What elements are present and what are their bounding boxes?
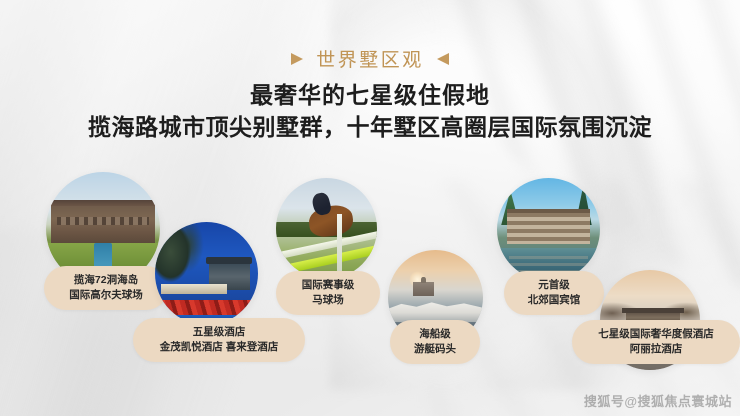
headline-line-2: 揽海路城市顶尖别墅群，十年墅区高圈层国际氛围沉淀 — [0, 111, 740, 144]
amenity-label-line-2: 北郊国宾馆 — [518, 293, 590, 308]
amenity-label-line-1: 揽海72洞海岛 — [58, 273, 154, 288]
amenity-label-line-1: 国际赛事级 — [290, 278, 366, 293]
amenity-label-alila: 七星级国际奢华度假酒店 阿丽拉酒店 — [572, 320, 740, 364]
headline-line-1: 最奢华的七星级住假地 — [0, 80, 740, 111]
five-star-hotel-photo — [155, 222, 258, 325]
page-title: 最奢华的七星级住假地 揽海路城市顶尖别墅群，十年墅区高圈层国际氛围沉淀 — [0, 80, 740, 144]
triangle-left-icon — [437, 53, 449, 65]
amenity-label-line-2: 金茂凯悦酒店 喜来登酒店 — [147, 340, 291, 355]
amenity-label-line-2: 阿丽拉酒店 — [586, 342, 726, 357]
amenity-label-line-1: 海船级 — [404, 327, 466, 342]
amenity-label-hotel: 五星级酒店 金茂凯悦酒店 喜来登酒店 — [133, 318, 305, 362]
amenity-label-line-2: 国际高尔夫球场 — [58, 288, 154, 303]
amenity-label-golf: 揽海72洞海岛 国际高尔夫球场 — [44, 266, 168, 310]
amenity-label-line-1: 五星级酒店 — [147, 325, 291, 340]
triangle-right-icon — [291, 53, 303, 65]
eyebrow-title: 世界墅区观 — [316, 45, 424, 72]
state-guesthouse-photo — [497, 178, 600, 281]
amenity-label-line-2: 游艇码头 — [404, 342, 466, 357]
equestrian-polo-photo — [276, 178, 377, 279]
amenity-label-line-2: 马球场 — [290, 293, 366, 308]
eyebrow-row: 世界墅区观 — [0, 45, 740, 72]
amenity-label-marina: 海船级 游艇码头 — [390, 320, 480, 364]
promo-poster: 世界墅区观 最奢华的七星级住假地 揽海路城市顶尖别墅群，十年墅区高圈层国际氛围沉… — [0, 0, 740, 416]
watermark: 搜狐号@搜狐焦点寰城站 — [584, 391, 732, 410]
amenity-label-line-1: 七星级国际奢华度假酒店 — [586, 327, 726, 342]
amenity-label-line-1: 元首级 — [518, 278, 590, 293]
amenity-label-polo: 国际赛事级 马球场 — [276, 271, 380, 315]
amenity-label-guesthouse: 元首级 北郊国宾馆 — [504, 271, 604, 315]
